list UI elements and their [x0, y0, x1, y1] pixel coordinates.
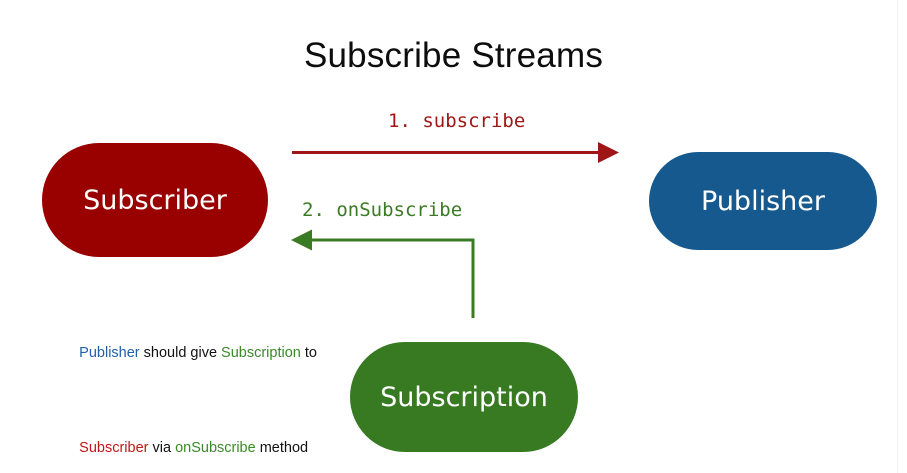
caption-line-1: Publisher should give Subscription to: [55, 325, 355, 382]
node-subscriber-label: Subscriber: [83, 185, 227, 216]
caption-note: Publisher should give Subscription to Su…: [55, 287, 355, 473]
page-title: Subscribe Streams: [0, 36, 907, 76]
caption-word-subscriber: Subscriber: [79, 440, 148, 456]
node-subscription[interactable]: Subscription: [350, 342, 578, 452]
node-publisher-label: Publisher: [701, 186, 825, 217]
caption-text-via: via: [148, 440, 175, 456]
arrow-label-onsubscribe: 2. onSubscribe: [302, 199, 462, 221]
caption-line-2: Subscriber via onSubscribe method: [55, 420, 355, 473]
node-subscriber[interactable]: Subscriber: [42, 143, 268, 257]
node-subscription-label: Subscription: [380, 382, 548, 413]
arrow-label-subscribe: 1. subscribe: [388, 110, 525, 132]
caption-text-method: method: [256, 440, 308, 456]
arrow-subscribe: [286, 140, 632, 166]
caption-word-onsubscribe: onSubscribe: [175, 440, 256, 456]
node-publisher[interactable]: Publisher: [649, 152, 877, 250]
caption-text-to: to: [301, 345, 317, 361]
slide-canvas: Subscribe Streams 1. subscribe 2. onSubs…: [0, 0, 907, 473]
caption-word-subscription: Subscription: [221, 345, 301, 361]
caption-word-publisher: Publisher: [79, 345, 139, 361]
caption-text-should-give: should give: [140, 345, 221, 361]
